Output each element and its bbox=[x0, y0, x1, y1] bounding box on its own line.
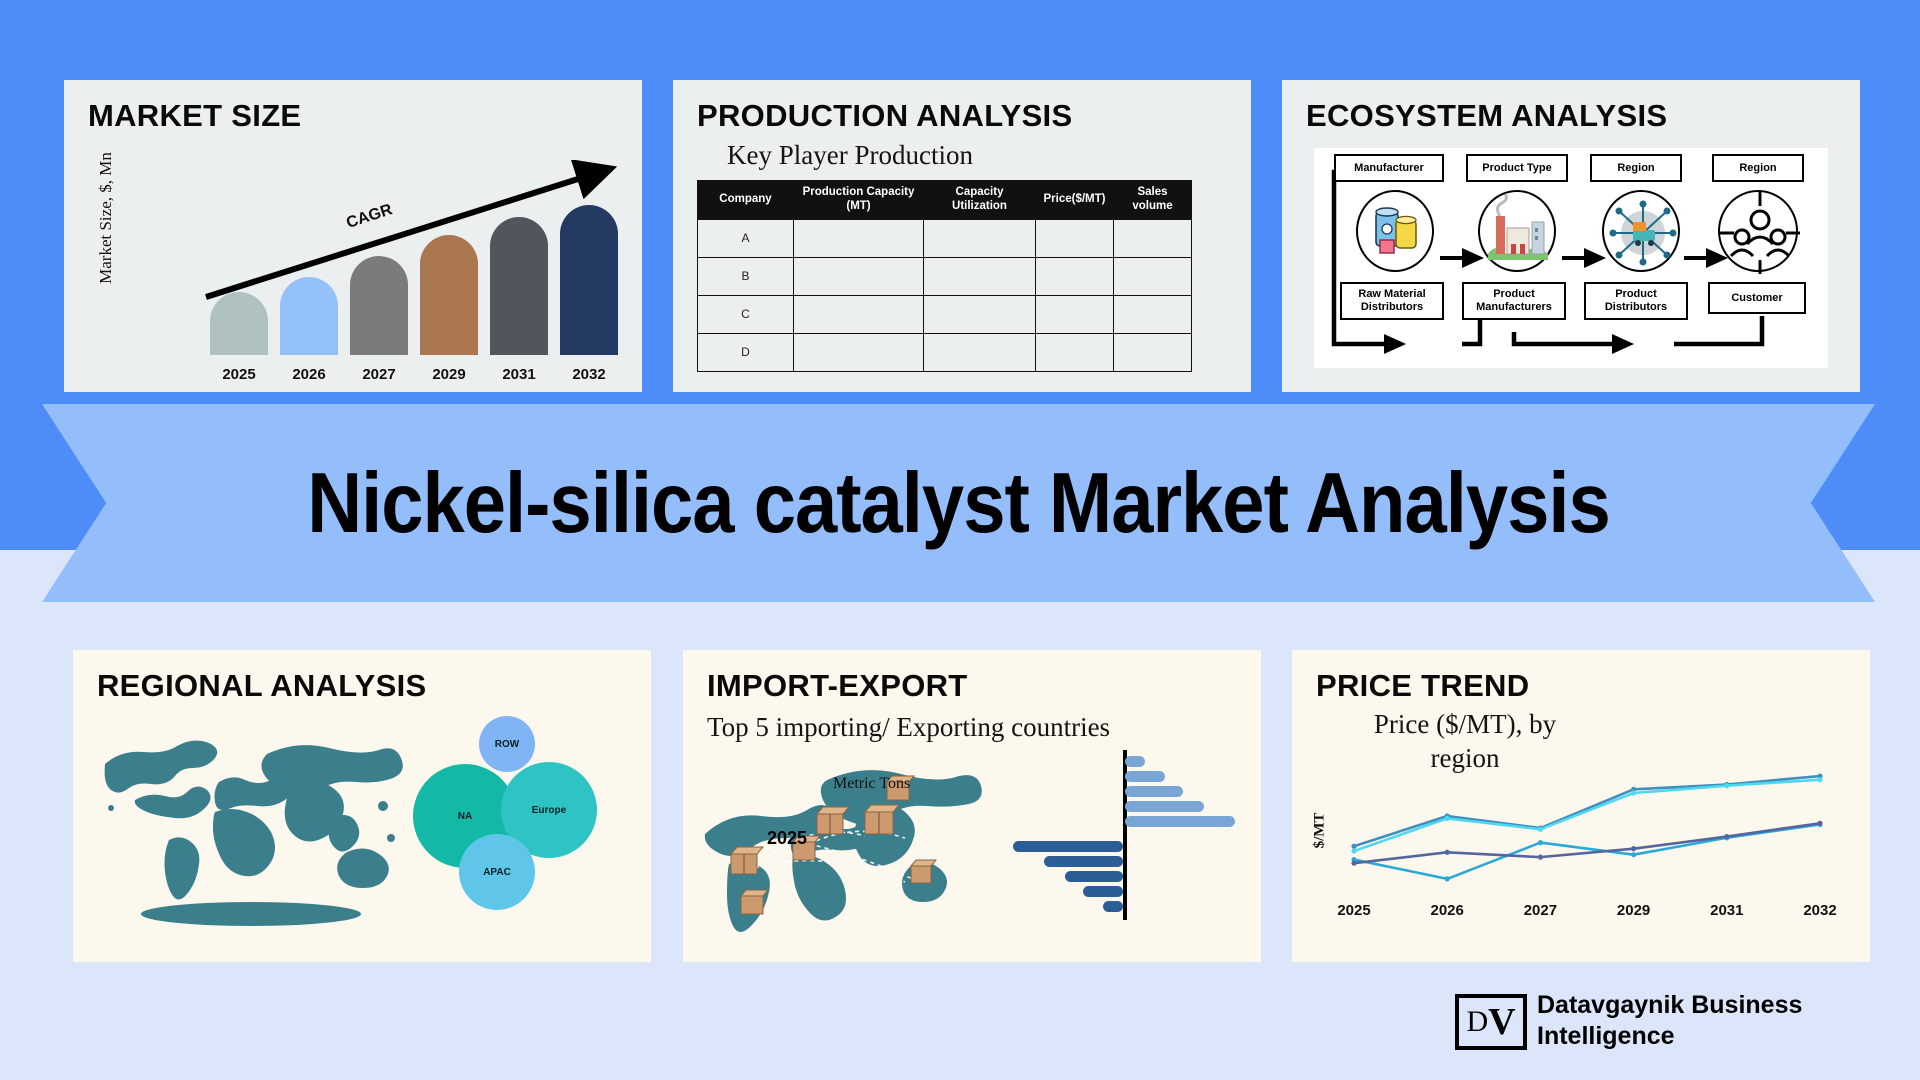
production-analysis-title: PRODUCTION ANALYSIS bbox=[697, 98, 1072, 134]
price-trend-series-line bbox=[1354, 780, 1820, 851]
table-column-header: Price($/MT) bbox=[1036, 181, 1114, 220]
table-cell bbox=[924, 257, 1036, 295]
price-trend-data-point bbox=[1538, 840, 1543, 845]
regional-analysis-panel: REGIONAL ANALYSIS NA Europe APAC ROW bbox=[73, 650, 651, 962]
price-trend-data-point bbox=[1817, 777, 1822, 782]
table-cell bbox=[924, 333, 1036, 371]
table-cell bbox=[794, 333, 924, 371]
import-export-tornado-chart bbox=[1003, 750, 1243, 950]
metric-tons-label: Metric Tons bbox=[833, 775, 910, 793]
table-cell: B bbox=[698, 257, 794, 295]
production-analysis-panel: PRODUCTION ANALYSIS Key Player Productio… bbox=[673, 80, 1251, 392]
table-cell bbox=[1036, 257, 1114, 295]
import-export-subtitle: Top 5 importing/ Exporting countries bbox=[707, 712, 1110, 743]
eco-bottom-label-0: Raw Material Distributors bbox=[1340, 282, 1444, 320]
price-trend-lines bbox=[1340, 762, 1840, 897]
table-cell bbox=[1114, 257, 1192, 295]
market-size-y-axis-label: Market Size, $, Mn bbox=[96, 143, 116, 293]
eco-top-label-2: Region bbox=[1590, 154, 1682, 182]
price-trend-data-point bbox=[1445, 816, 1450, 821]
market-size-bar-group bbox=[350, 256, 408, 355]
market-size-year-label: 2032 bbox=[560, 366, 618, 383]
price-trend-x-label: 2026 bbox=[1419, 902, 1475, 919]
import-export-panel: IMPORT-EXPORT Top 5 importing/ Exporting… bbox=[683, 650, 1261, 962]
market-size-title: MARKET SIZE bbox=[88, 98, 301, 134]
eco-top-label-3: Region bbox=[1712, 154, 1804, 182]
table-cell bbox=[1036, 219, 1114, 257]
company-logo: D V Datavgaynik Business Intelligence bbox=[1455, 990, 1865, 1065]
table-body: ABCD bbox=[698, 219, 1192, 371]
market-size-bar bbox=[490, 217, 548, 355]
market-size-year-label: 2025 bbox=[210, 366, 268, 383]
market-size-bar bbox=[280, 277, 338, 355]
market-size-plot: CAGR 202520262027202920312032 bbox=[204, 160, 624, 385]
price-trend-title: PRICE TREND bbox=[1316, 668, 1529, 704]
key-player-production-table: CompanyProduction Capacity (MT)Capacity … bbox=[697, 180, 1192, 372]
price-trend-x-label: 2031 bbox=[1699, 902, 1755, 919]
market-size-bar bbox=[350, 256, 408, 355]
barrels-icon bbox=[1356, 190, 1434, 272]
table-column-header: Production Capacity (MT) bbox=[794, 181, 924, 220]
market-size-year-label: 2029 bbox=[420, 366, 478, 383]
tornado-bar-export bbox=[1125, 801, 1204, 812]
tornado-bar-export bbox=[1125, 756, 1145, 767]
price-trend-x-axis: 202520262027202920312032 bbox=[1340, 902, 1840, 924]
price-trend-data-point bbox=[1724, 783, 1729, 788]
market-size-year-label: 2026 bbox=[280, 366, 338, 383]
table-column-header: Sales volume bbox=[1114, 181, 1192, 220]
market-size-bar-group bbox=[420, 235, 478, 355]
table-header-row: CompanyProduction Capacity (MT)Capacity … bbox=[698, 181, 1192, 220]
bubble-row: ROW bbox=[479, 716, 535, 772]
price-trend-data-point bbox=[1724, 834, 1729, 839]
table-cell bbox=[1114, 219, 1192, 257]
tornado-bar-import bbox=[1044, 856, 1123, 867]
price-trend-x-label: 2032 bbox=[1792, 902, 1848, 919]
price-trend-data-point bbox=[1817, 821, 1822, 826]
table-cell bbox=[1114, 295, 1192, 333]
price-trend-data-point bbox=[1351, 861, 1356, 866]
production-analysis-subtitle: Key Player Production bbox=[727, 140, 973, 171]
price-trend-series-line bbox=[1354, 823, 1820, 863]
regional-bubble-chart: NA Europe APAC ROW bbox=[413, 712, 633, 932]
table-row: C bbox=[698, 295, 1192, 333]
bubble-apac: APAC bbox=[459, 834, 535, 910]
ecosystem-analysis-panel: ECOSYSTEM ANALYSIS bbox=[1282, 80, 1860, 392]
eco-bottom-label-2: Product Distributors bbox=[1584, 282, 1688, 320]
ecosystem-flow-diagram: Manufacturer Product Type Region Region bbox=[1314, 148, 1828, 368]
tornado-bar-import bbox=[1083, 886, 1123, 897]
table-column-header: Capacity Utilization bbox=[924, 181, 1036, 220]
price-trend-data-point bbox=[1445, 876, 1450, 881]
price-trend-data-point bbox=[1631, 790, 1636, 795]
logo-letter-d: D bbox=[1466, 1005, 1488, 1039]
price-trend-data-point bbox=[1631, 852, 1636, 857]
table-cell bbox=[924, 295, 1036, 333]
price-trend-data-point bbox=[1538, 827, 1543, 832]
market-size-year-label: 2031 bbox=[490, 366, 548, 383]
main-title-ribbon: Nickel-silica catalyst Market Analysis bbox=[42, 404, 1875, 602]
price-trend-y-axis-label: $/MT bbox=[1312, 801, 1329, 861]
market-size-bar-group bbox=[560, 205, 618, 355]
table-cell bbox=[1036, 333, 1114, 371]
market-size-bar bbox=[210, 292, 268, 355]
tornado-bar-import bbox=[1013, 841, 1123, 852]
price-trend-x-label: 2029 bbox=[1606, 902, 1662, 919]
market-size-panel: MARKET SIZE Market Size, $, Mn CAGR 2025… bbox=[64, 80, 642, 392]
price-trend-data-point bbox=[1351, 844, 1356, 849]
market-size-bar bbox=[420, 235, 478, 355]
eco-bottom-label-1: Product Manufacturers bbox=[1462, 282, 1566, 320]
page-title: Nickel-silica catalyst Market Analysis bbox=[307, 454, 1610, 551]
world-map-icon bbox=[91, 712, 411, 937]
price-trend-data-point bbox=[1351, 848, 1356, 853]
logo-mark-box: D V bbox=[1455, 994, 1527, 1050]
table-cell bbox=[794, 295, 924, 333]
eco-top-label-0: Manufacturer bbox=[1334, 154, 1444, 182]
table-row: A bbox=[698, 219, 1192, 257]
price-trend-data-point bbox=[1445, 850, 1450, 855]
market-size-bar bbox=[560, 205, 618, 355]
price-trend-data-point bbox=[1538, 855, 1543, 860]
table-cell bbox=[1036, 295, 1114, 333]
table-cell bbox=[794, 219, 924, 257]
eco-top-label-1: Product Type bbox=[1466, 154, 1568, 182]
table-cell: D bbox=[698, 333, 794, 371]
tornado-bar-import bbox=[1103, 901, 1123, 912]
price-trend-x-label: 2027 bbox=[1512, 902, 1568, 919]
logo-letter-v: V bbox=[1488, 1000, 1515, 1044]
market-size-bar-group bbox=[280, 277, 338, 355]
table-cell: C bbox=[698, 295, 794, 333]
table-cell: A bbox=[698, 219, 794, 257]
company-name: Datavgaynik Business Intelligence bbox=[1537, 990, 1867, 1051]
customers-icon bbox=[1718, 190, 1798, 272]
table-row: B bbox=[698, 257, 1192, 295]
distribution-network-icon bbox=[1602, 190, 1680, 272]
price-trend-panel: PRICE TREND Price ($/MT), by region $/MT… bbox=[1292, 650, 1870, 962]
cagr-label: CAGR bbox=[344, 201, 394, 233]
price-trend-x-label: 2025 bbox=[1326, 902, 1382, 919]
table-cell bbox=[924, 219, 1036, 257]
table-row: D bbox=[698, 333, 1192, 371]
price-trend-data-point bbox=[1631, 846, 1636, 851]
import-export-title: IMPORT-EXPORT bbox=[707, 668, 968, 704]
eco-bottom-label-3: Customer bbox=[1708, 282, 1806, 314]
tornado-bar-export bbox=[1125, 816, 1235, 827]
regional-analysis-title: REGIONAL ANALYSIS bbox=[97, 668, 427, 704]
table-cell bbox=[794, 257, 924, 295]
import-export-year-label: 2025 bbox=[767, 828, 807, 849]
table-column-header: Company bbox=[698, 181, 794, 220]
ecosystem-analysis-title: ECOSYSTEM ANALYSIS bbox=[1306, 98, 1667, 134]
tornado-bar-import bbox=[1065, 871, 1123, 882]
market-size-bar-group bbox=[490, 217, 548, 355]
factory-icon bbox=[1478, 190, 1556, 272]
table-cell bbox=[1114, 333, 1192, 371]
tornado-bar-export bbox=[1125, 771, 1165, 782]
market-size-year-label: 2027 bbox=[350, 366, 408, 383]
tornado-bar-export bbox=[1125, 786, 1183, 797]
market-size-bar-group bbox=[210, 292, 268, 355]
